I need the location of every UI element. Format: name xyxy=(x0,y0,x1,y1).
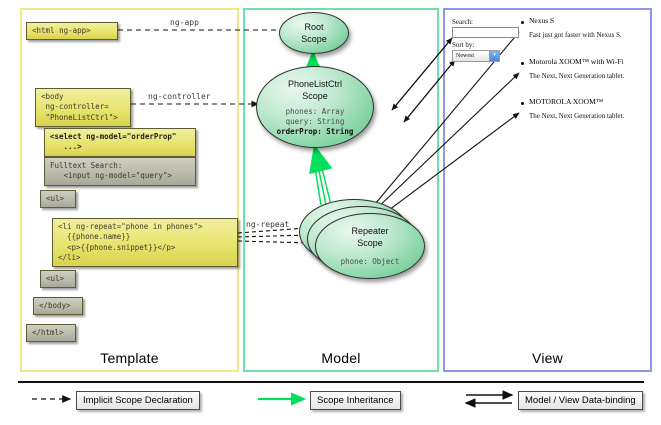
legend-implicit-scope-declaration: Implicit Scope Declaration xyxy=(76,391,200,410)
legend-arrow-layer xyxy=(0,0,661,425)
legend-scope-inheritance: Scope Inheritance xyxy=(310,391,401,410)
diagram-canvas: Template Model View xyxy=(0,0,661,425)
legend-model-view-data-binding: Model / View Data-binding xyxy=(518,391,643,410)
